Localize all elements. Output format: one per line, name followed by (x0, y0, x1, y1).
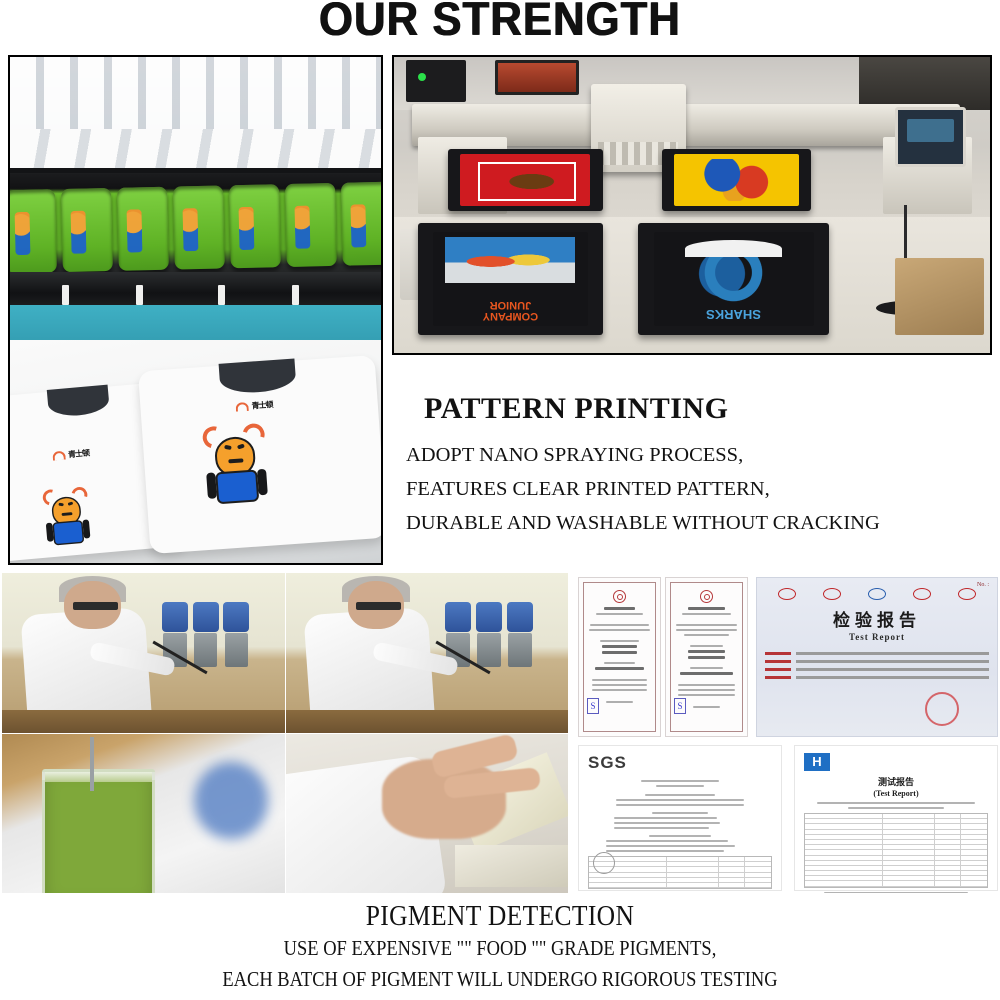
h-logo-icon: H (804, 753, 830, 771)
pigment-detection-text-block: PIGMENT DETECTION USE OF EXPENSIVE "" FO… (0, 900, 1000, 995)
green-platen (173, 185, 225, 269)
bull-mascot-icon (44, 486, 91, 548)
pigment-detection-line-1: USE OF EXPENSIVE "" FOOD "" GRADE PIGMEN… (60, 933, 940, 964)
test-report-fields (765, 652, 989, 679)
photo-hand-test-swatch (286, 734, 569, 894)
sharks-artwork: SHARKS (654, 232, 814, 327)
pattern-printing-text-block: PATTERN PRINTING ADOPT NANO SPRAYING PRO… (392, 392, 992, 540)
print-tray-red-shirt (448, 149, 603, 211)
tshirt-collar (46, 385, 110, 418)
certificates-top-row: S S (578, 577, 998, 737)
red-shirt-artwork (460, 154, 590, 206)
junior-company-graphic (445, 237, 575, 282)
cqc-logo-icon (913, 588, 931, 600)
test-report-cn-title: 检验报告 (765, 606, 989, 631)
report-number-label: No. : (977, 582, 989, 588)
tshirt-collar (218, 358, 296, 394)
printed-tshirt: 青士顿 (137, 355, 383, 554)
safety-glasses-icon (356, 602, 401, 610)
green-platen (8, 189, 57, 273)
junior-company-line1: COMPANY (482, 310, 537, 322)
ccc-logo-icon (958, 588, 976, 600)
h-report-cn-title: 测试报告 (804, 775, 988, 788)
brand-mark-text: 青士顿 (67, 448, 89, 461)
certificates-bottom-row: SGS (578, 745, 998, 891)
stirring-rod (90, 737, 94, 791)
sgs-stamp-icon (593, 852, 615, 874)
green-platen (229, 184, 281, 268)
iso-certificate-cn: S (578, 577, 661, 737)
test-report-en-title: Test Report (765, 632, 989, 642)
sharks-graphic (676, 243, 791, 302)
carousel-platen-row (8, 182, 383, 279)
pigment-detection-line-2: EACH BATCH OF PIGMENT WILL UNDERGO RIGOR… (60, 964, 940, 995)
safety-glasses-icon (73, 602, 118, 610)
blue-stamp-icon: S (587, 698, 599, 714)
page-title: OUR STRENGTH (0, 0, 1000, 41)
photo-lab-technician-left (2, 573, 285, 733)
photo-screen-printing-carousel: 青士顿 青士顿 (8, 55, 383, 565)
yellow-shirt-artwork (674, 154, 799, 206)
green-platen (341, 182, 383, 266)
certification-logo-row (765, 588, 989, 600)
green-platen (61, 188, 113, 272)
power-led-icon (418, 73, 426, 81)
lab-bench (286, 710, 569, 732)
glass-beaker (42, 769, 155, 893)
ccc-logo-icon (823, 588, 841, 600)
bull-horn-icon (235, 401, 249, 411)
wall-dark-panel (859, 57, 990, 110)
carousel-finished-shirts: 青士顿 青士顿 (10, 340, 381, 563)
bull-logo-small: 青士顿 (235, 398, 273, 412)
print-tray-sharks-shirt: SHARKS (638, 223, 829, 335)
junior-company-label: COMPANY JUNIOR (439, 299, 582, 321)
lab-photo-grid (2, 573, 568, 893)
carousel-top-rail (10, 57, 381, 173)
print-tray-yellow-shirt (662, 149, 811, 211)
h-report-results-table (804, 813, 988, 888)
sgs-logo-text: SGS (588, 753, 772, 773)
photo-lab-technician-right (286, 573, 569, 733)
iso-certificate-pair: S S (578, 577, 748, 737)
pattern-printing-heading: PATTERN PRINTING (424, 392, 992, 426)
sgs-results-table (588, 856, 772, 889)
print-tray-junior-company-shirt: COMPANY JUNIOR (418, 223, 603, 335)
bull-logo-small: 青士顿 (51, 448, 89, 462)
bull-mascot-icon (203, 423, 267, 509)
pattern-printing-line-3: DURABLE AND WASHABLE WITHOUT CRACKING (406, 506, 992, 540)
iso-logo-icon (868, 588, 886, 600)
certificates-panel: S S (578, 573, 998, 893)
certificate-seal-icon (613, 590, 626, 603)
background-mixer-blur (194, 762, 267, 839)
blue-stamp-icon: S (674, 698, 686, 714)
sharks-label: SHARKS (663, 307, 804, 322)
cqc-logo-icon (778, 588, 796, 600)
certificate-seal-icon (700, 590, 713, 603)
tablet-screen (495, 60, 578, 95)
printer-back-wall (394, 57, 990, 110)
paper-stack (455, 845, 568, 886)
green-platen (285, 183, 337, 267)
carousel-machine-bar (10, 272, 381, 307)
test-report-certificate: No. : 检验报告 Test Report (756, 577, 998, 737)
printer-control-panel[interactable] (895, 107, 967, 166)
lab-bench (2, 710, 285, 732)
photo-dtg-printer: COMPANY JUNIOR SHARKS (392, 55, 992, 355)
h-report-en-title: (Test Report) (804, 789, 988, 798)
red-official-stamp-icon (925, 692, 959, 726)
bull-horn-icon (52, 451, 66, 461)
h-test-report: H 测试报告 (Test Report) (794, 745, 998, 891)
pattern-printing-line-2: FEATURES CLEAR PRINTED PATTERN, (406, 472, 992, 506)
control-box (406, 60, 466, 102)
pattern-printing-line-1: ADOPT NANO SPRAYING PROCESS, (406, 438, 992, 472)
cardboard-boxes (895, 258, 984, 335)
junior-company-artwork: COMPANY JUNIOR (433, 232, 588, 327)
poster-root: OUR STRENGTH 青士顿 (0, 0, 1000, 1000)
iso-certificate-en: S (665, 577, 748, 737)
photo-green-pigment-beaker (2, 734, 285, 894)
photo-grid-pigment-lab (2, 573, 568, 893)
sgs-test-report: SGS (578, 745, 782, 891)
pigment-detection-heading: PIGMENT DETECTION (60, 900, 940, 933)
green-platen (117, 187, 169, 271)
brand-mark-text: 青士顿 (251, 398, 273, 410)
junior-company-line2: JUNIOR (489, 299, 531, 311)
